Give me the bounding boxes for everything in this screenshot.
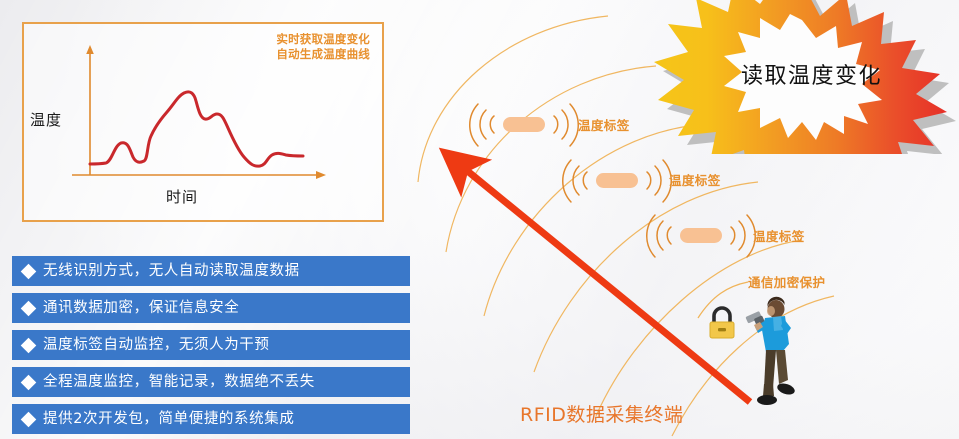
tag-label-3: 温度标签 — [753, 226, 805, 245]
figure-leg-left — [764, 350, 776, 388]
diamond-bullet-icon — [21, 300, 37, 316]
figure-leg-right — [776, 350, 788, 384]
list-item-label: 无线识别方式，无人自动读取温度数据 — [43, 264, 300, 279]
chart-note-line-1: 实时获取温度变化 — [276, 32, 370, 47]
list-item-label: 提供2次开发包，简单便捷的系统集成 — [43, 412, 294, 427]
diamond-bullet-icon — [21, 411, 37, 427]
feature-bullet-list: 无线识别方式，无人自动读取温度数据 通讯数据加密，保证信息安全 温度标签自动监控… — [12, 256, 410, 439]
list-item[interactable]: 全程温度监控，智能记录，数据绝不丢失 — [12, 367, 410, 397]
list-item[interactable]: 无线识别方式，无人自动读取温度数据 — [12, 256, 410, 286]
chart-note: 实时获取温度变化 自动生成温度曲线 — [276, 32, 370, 62]
chart-x-axis-arrow — [316, 171, 326, 179]
diamond-bullet-icon — [21, 374, 37, 390]
lock-icon — [706, 306, 738, 342]
list-item-label: 温度标签自动监控，无须人为干预 — [43, 338, 270, 353]
list-item[interactable]: 提供2次开发包，简单便捷的系统集成 — [12, 404, 410, 434]
temperature-curve — [90, 92, 303, 166]
chart-note-line-2: 自动生成温度曲线 — [276, 47, 370, 62]
tag-label-1: 温度标签 — [578, 115, 630, 134]
list-item-label: 通讯数据加密，保证信息安全 — [43, 301, 239, 316]
encryption-label: 通信加密保护 — [748, 272, 825, 291]
slide-canvas: · · · · · · 实时获取温度变化 自动生成温度曲线 温度 时间 无线识别… — [0, 0, 959, 439]
temperature-chart-card: 实时获取温度变化 自动生成温度曲线 温度 时间 — [22, 22, 384, 222]
chart-x-axis-label: 时间 — [166, 186, 198, 207]
figure-shoe-right — [776, 381, 796, 396]
diamond-bullet-icon — [21, 337, 37, 353]
starburst-callout: 读取温度变化 — [650, 0, 959, 154]
chart-y-axis-arrow — [86, 45, 94, 54]
terminal-caption: RFID数据采集终端 — [520, 400, 683, 427]
arrow-shaft — [454, 160, 750, 402]
list-item[interactable]: 通讯数据加密，保证信息安全 — [12, 293, 410, 323]
list-item-label: 全程温度监控，智能记录，数据绝不丢失 — [43, 375, 315, 390]
starburst-text: 读取温度变化 — [650, 0, 959, 154]
rfid-operator-figure — [745, 296, 797, 414]
list-item[interactable]: 温度标签自动监控，无须人为干预 — [12, 330, 410, 360]
diamond-bullet-icon — [21, 263, 37, 279]
figure-shoe-left — [757, 395, 777, 405]
chart-y-axis-label: 温度 — [30, 109, 62, 130]
tag-label-2: 温度标签 — [669, 170, 721, 189]
